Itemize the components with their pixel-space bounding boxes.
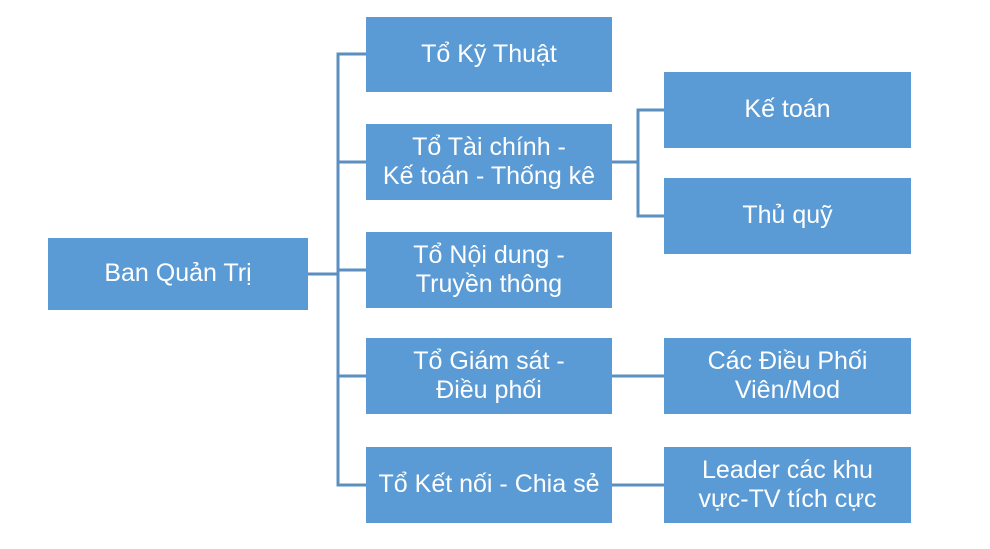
node-label-line1: Tổ Giám sát - [413,347,564,375]
node-label: Tổ Kết nối - Chia sẻ [366,470,612,500]
node-label: Tổ Nội dung - Truyền thông [366,241,612,300]
node-label-line2: Viên/Mod [735,376,840,404]
node-label-line1: Tổ Nội dung - [413,241,564,269]
node-to-ky-thuat[interactable]: Tổ Kỹ Thuật [366,17,612,92]
node-label-line1: Tổ Tài chính - [412,133,566,161]
node-label: Tổ Kỹ Thuật [366,40,612,70]
node-to-tai-chinh-ke-toan-thong-ke[interactable]: Tổ Tài chính - Kế toán - Thống kê [366,124,612,200]
node-ban-quan-tri[interactable]: Ban Quản Trị [48,238,308,310]
node-label: Kế toán [664,95,911,125]
node-thu-quy[interactable]: Thủ quỹ [664,178,911,254]
node-to-giam-sat-dieu-phoi[interactable]: Tổ Giám sát - Điều phối [366,338,612,414]
node-cac-dieu-phoi-vien-mod[interactable]: Các Điều Phối Viên/Mod [664,338,911,414]
node-label-line2: vực-TV tích cực [699,485,877,513]
node-label-line2: Điều phối [436,376,542,404]
node-label-line1: Các Điều Phối [708,347,868,375]
node-label: Leader các khu vực-TV tích cực [664,456,911,515]
node-to-ket-noi-chia-se[interactable]: Tổ Kết nối - Chia sẻ [366,447,612,523]
node-label: Tổ Tài chính - Kế toán - Thống kê [366,133,612,192]
node-label: Các Điều Phối Viên/Mod [664,347,911,406]
node-to-noi-dung-truyen-thong[interactable]: Tổ Nội dung - Truyền thông [366,232,612,308]
org-chart-canvas: Ban Quản Trị Tổ Kỹ Thuật Tổ Tài chính - … [0,0,990,549]
node-ke-toan[interactable]: Kế toán [664,72,911,148]
node-label: Ban Quản Trị [48,259,308,289]
node-label: Tổ Giám sát - Điều phối [366,347,612,406]
node-label: Thủ quỹ [664,201,911,231]
node-label-line2: Truyền thông [416,270,562,298]
node-label-line2: Kế toán - Thống kê [383,162,595,190]
node-leader-cac-khu-vuc-tv-tich-cuc[interactable]: Leader các khu vực-TV tích cực [664,447,911,523]
node-label-line1: Leader các khu [702,456,873,484]
